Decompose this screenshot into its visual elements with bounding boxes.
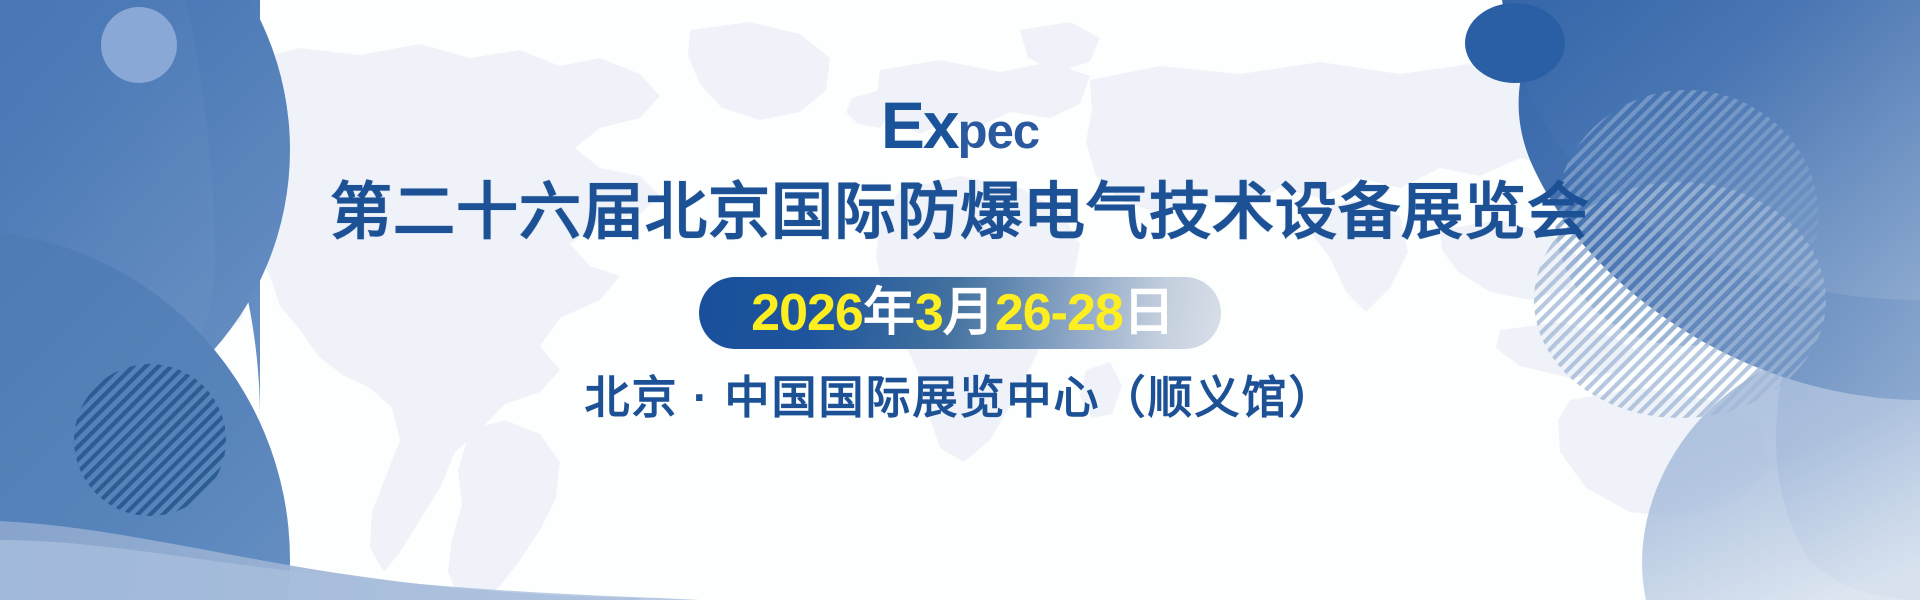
date-year: 2026 — [751, 287, 863, 339]
date-year-unit: 年 — [863, 287, 915, 339]
logo-text-light: pec — [958, 105, 1039, 159]
date-month: 3 — [915, 287, 943, 339]
event-venue: 北京 · 中国国际展览中心（顺义馆） — [585, 375, 1336, 420]
date-month-unit: 月 — [943, 287, 995, 339]
brand-logo: Expec — [881, 92, 1039, 158]
event-banner: Expec 第二十六届北京国际防爆电气技术设备展览会 2026年3月26-28日… — [0, 0, 1920, 600]
event-title: 第二十六届北京国际防爆电气技术设备展览会 — [330, 182, 1590, 244]
banner-content: Expec 第二十六届北京国际防爆电气技术设备展览会 2026年3月26-28日… — [0, 0, 1920, 600]
date-days: 26-28 — [995, 287, 1123, 339]
logo-text-bold: Ex — [881, 88, 958, 162]
date-day-unit: 日 — [1123, 287, 1175, 339]
event-date-badge: 2026年3月26-28日 — [699, 277, 1221, 349]
